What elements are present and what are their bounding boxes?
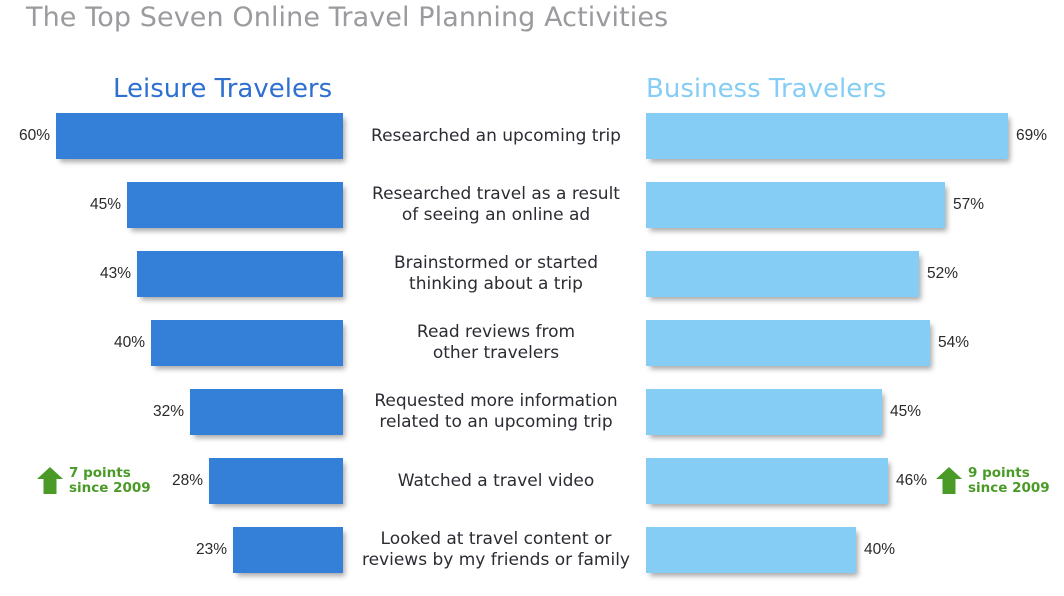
business-bar-track [646,389,882,435]
activity-label-line: Researched travel as a result [372,184,620,205]
activity-label: Researched an upcoming trip [352,113,640,159]
chart-rows: 60%Researched an upcoming trip69%45%Rese… [0,113,1064,596]
leisure-value-label: 43% [100,251,131,297]
leisure-bar-track [0,182,343,228]
leisure-bar[interactable] [190,389,343,435]
activity-label-line: other travelers [433,343,559,364]
activity-label-line: reviews by my friends or family [362,550,630,571]
business-bar[interactable] [646,320,930,366]
activity-label-line: Researched an upcoming trip [371,126,621,147]
leisure-bar[interactable] [137,251,343,297]
leisure-bar-track [0,113,343,159]
delta-line-1: 9 points [968,466,1050,481]
business-bar-track [646,320,930,366]
activity-label-line: Read reviews from [417,322,575,343]
activity-label: Watched a travel video [352,458,640,504]
leisure-value-label: 60% [19,113,50,159]
activity-label-line: Requested more information [374,391,617,412]
leisure-bar[interactable] [209,458,343,504]
business-bar-track [646,182,945,228]
column-header-leisure: Leisure Travelers [113,74,332,104]
business-value-label: 54% [938,320,969,366]
leisure-bar-track [0,527,343,573]
leisure-value-label: 23% [196,527,227,573]
business-bar[interactable] [646,113,1008,159]
leisure-bar[interactable] [233,527,343,573]
activity-label-line: of seeing an online ad [402,205,590,226]
business-bar[interactable] [646,458,888,504]
chart-row: 43%Brainstormed or startedthinking about… [0,251,1064,320]
leisure-bar-track [0,320,343,366]
delta-line-2: since 2009 [69,481,151,496]
business-bar-track [646,251,919,297]
page-title: The Top Seven Online Travel Planning Act… [26,2,668,33]
column-header-business: Business Travelers [646,74,886,104]
business-bar[interactable] [646,251,919,297]
activity-label: Looked at travel content orreviews by my… [352,527,640,573]
leisure-value-label: 45% [90,182,121,228]
business-value-label: 46% [896,458,927,504]
business-delta-annotation: 9 pointssince 2009 [935,458,1050,504]
activity-label: Requested more informationrelated to an … [352,389,640,435]
activity-label-line: Watched a travel video [398,471,595,492]
business-bar[interactable] [646,182,945,228]
chart-row: 23%Looked at travel content orreviews by… [0,527,1064,596]
business-bar-track [646,113,1008,159]
leisure-value-label: 32% [153,389,184,435]
activity-label: Brainstormed or startedthinking about a … [352,251,640,297]
chart-row: 32%Requested more informationrelated to … [0,389,1064,458]
chart-row: 45%Researched travel as a resultof seein… [0,182,1064,251]
activity-label-line: thinking about a trip [409,274,583,295]
business-value-label: 40% [864,527,895,573]
business-value-label: 45% [890,389,921,435]
arrow-up-icon [36,466,64,496]
business-value-label: 57% [953,182,984,228]
arrow-up-icon [935,466,963,496]
leisure-value-label: 40% [114,320,145,366]
leisure-bar[interactable] [127,182,343,228]
delta-line-2: since 2009 [968,481,1050,496]
business-value-label: 69% [1016,113,1047,159]
leisure-bar[interactable] [56,113,343,159]
business-bar[interactable] [646,389,882,435]
chart-row: 40%Read reviews fromother travelers54% [0,320,1064,389]
leisure-delta-annotation: 7 pointssince 2009 [36,458,151,504]
leisure-bar-track [0,251,343,297]
leisure-value-label: 28% [172,458,203,504]
activity-label: Read reviews fromother travelers [352,320,640,366]
business-value-label: 52% [927,251,958,297]
leisure-bar[interactable] [151,320,343,366]
chart-row: 60%Researched an upcoming trip69% [0,113,1064,182]
business-bar-track [646,458,888,504]
activity-label-line: Looked at travel content or [381,529,612,550]
delta-line-1: 7 points [69,466,151,481]
business-bar[interactable] [646,527,856,573]
activity-label: Researched travel as a resultof seeing a… [352,182,640,228]
activity-label-line: Brainstormed or started [394,253,598,274]
chart-row: 28%7 pointssince 2009Watched a travel vi… [0,458,1064,527]
activity-label-line: related to an upcoming trip [379,412,612,433]
business-bar-track [646,527,856,573]
